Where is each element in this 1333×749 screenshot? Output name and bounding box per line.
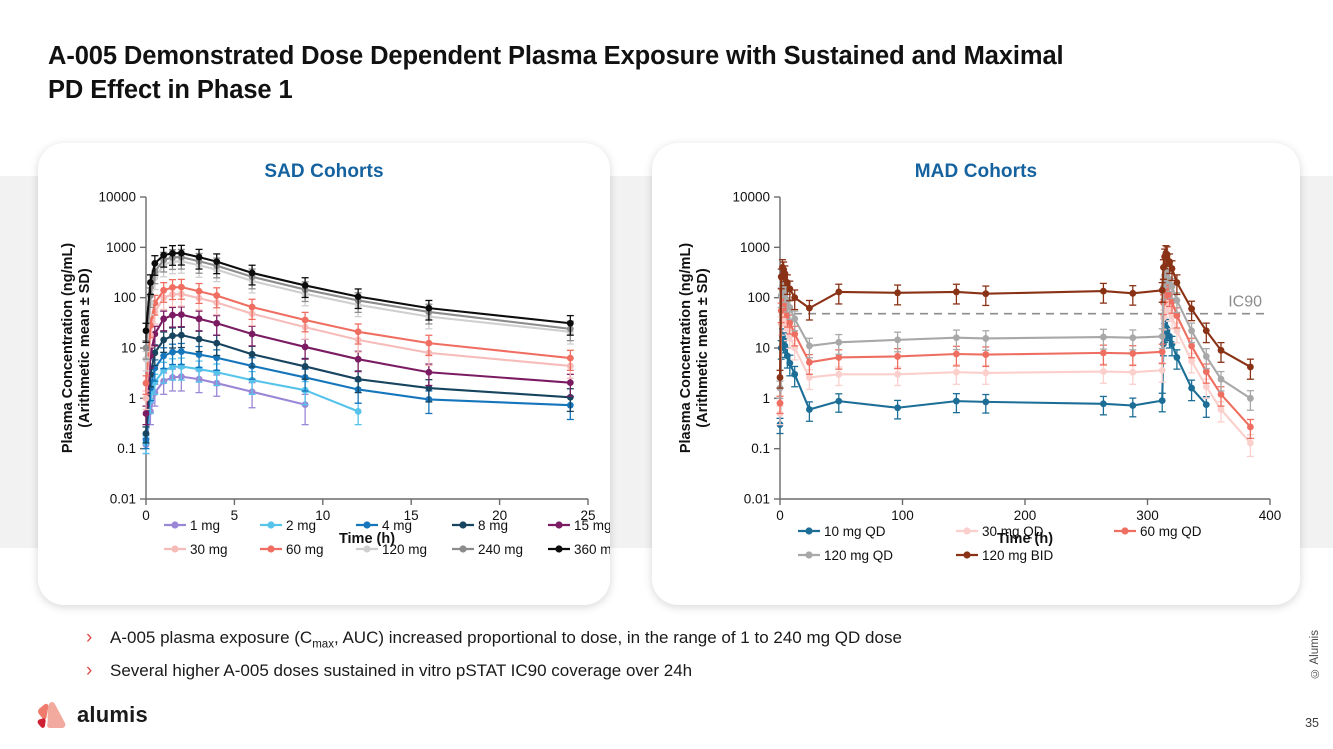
svg-text:360 mg: 360 mg: [574, 542, 610, 557]
svg-text:100: 100: [891, 508, 914, 523]
svg-text:0.1: 0.1: [117, 441, 136, 456]
svg-text:1: 1: [128, 391, 136, 406]
chart-mad[interactable]: 0.010.11101001000100000100200300400Time …: [652, 183, 1300, 603]
svg-text:0: 0: [142, 508, 150, 523]
svg-text:2 mg: 2 mg: [286, 518, 316, 533]
list-item: › A-005 plasma exposure (Cmax, AUC) incr…: [86, 628, 1206, 652]
svg-text:400: 400: [1259, 508, 1282, 523]
svg-text:1: 1: [762, 391, 770, 406]
alumis-mark-icon: [34, 700, 68, 730]
svg-text:Plasma Concentration (ng/mL): Plasma Concentration (ng/mL): [678, 243, 694, 453]
svg-text:100: 100: [747, 290, 770, 305]
chart-title-sad: SAD Cohorts: [38, 161, 610, 183]
svg-text:(Arithmetic mean ± SD): (Arithmetic mean ± SD): [695, 268, 711, 428]
bullet-text-1: A-005 plasma exposure (Cmax, AUC) increa…: [110, 628, 902, 652]
svg-text:100: 100: [113, 290, 136, 305]
svg-text:Plasma Concentration (ng/mL): Plasma Concentration (ng/mL): [60, 243, 76, 453]
svg-text:120 mg QD: 120 mg QD: [824, 548, 893, 563]
svg-text:10 mg QD: 10 mg QD: [824, 524, 886, 539]
bullet-list: › A-005 plasma exposure (Cmax, AUC) incr…: [86, 628, 1206, 691]
svg-text:10: 10: [755, 341, 770, 356]
svg-text:240 mg: 240 mg: [478, 542, 523, 557]
chart-card-sad: SAD Cohorts 0.010.1110100100010000051015…: [38, 143, 610, 605]
chevron-right-icon: ›: [86, 628, 110, 647]
svg-text:1000: 1000: [740, 240, 770, 255]
svg-text:10000: 10000: [732, 190, 770, 205]
svg-text:200: 200: [1014, 508, 1037, 523]
svg-text:120 mg BID: 120 mg BID: [982, 548, 1054, 563]
list-item: › Several higher A-005 doses sustained i…: [86, 661, 1206, 681]
bullet-text-2: Several higher A-005 doses sustained in …: [110, 661, 692, 681]
chart-sad[interactable]: 0.010.11101001000100000510152025Time (h)…: [38, 183, 610, 603]
svg-text:1000: 1000: [106, 240, 136, 255]
svg-text:5: 5: [231, 508, 239, 523]
svg-text:30 mg QD: 30 mg QD: [982, 524, 1044, 539]
svg-text:0: 0: [776, 508, 784, 523]
svg-text:8 mg: 8 mg: [478, 518, 508, 533]
svg-text:10: 10: [121, 341, 136, 356]
chevron-right-icon: ›: [86, 661, 110, 680]
svg-text:IC90: IC90: [1228, 294, 1262, 311]
svg-text:120 mg: 120 mg: [382, 542, 427, 557]
svg-text:15 mg: 15 mg: [574, 518, 610, 533]
copyright-text: © Alumis: [1309, 630, 1321, 679]
svg-text:0.01: 0.01: [110, 492, 136, 507]
page-title: A-005 Demonstrated Dose Dependent Plasma…: [48, 40, 1078, 107]
svg-text:10: 10: [315, 508, 330, 523]
svg-text:10000: 10000: [98, 190, 136, 205]
chart-title-mad: MAD Cohorts: [652, 161, 1300, 183]
svg-text:4 mg: 4 mg: [382, 518, 412, 533]
svg-text:0.1: 0.1: [751, 441, 770, 456]
svg-text:0.01: 0.01: [744, 492, 770, 507]
page-number: 35: [1305, 716, 1319, 730]
slide-root: A-005 Demonstrated Dose Dependent Plasma…: [0, 0, 1333, 749]
svg-text:1 mg: 1 mg: [190, 518, 220, 533]
brand-logo: alumis: [34, 700, 148, 730]
svg-text:60 mg: 60 mg: [286, 542, 324, 557]
svg-text:300: 300: [1136, 508, 1159, 523]
svg-text:30 mg: 30 mg: [190, 542, 228, 557]
chart-card-mad: MAD Cohorts 0.010.1110100100010000010020…: [652, 143, 1300, 605]
svg-text:(Arithmetic mean ± SD): (Arithmetic mean ± SD): [77, 268, 93, 428]
logo-wordmark: alumis: [77, 702, 148, 728]
svg-text:60 mg QD: 60 mg QD: [1140, 524, 1202, 539]
